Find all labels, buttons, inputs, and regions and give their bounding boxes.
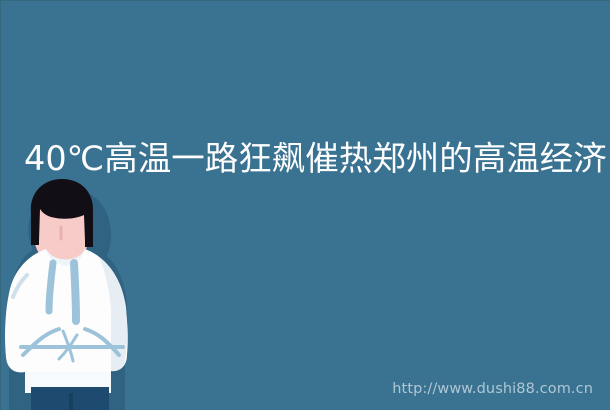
news-banner: 40℃高温一路狂飙催热郑州的高温经济 http://www.dushi88.co… xyxy=(0,0,610,410)
hair-right-lock xyxy=(85,211,93,247)
drawstring-right xyxy=(74,263,76,321)
hair-left-lock xyxy=(31,209,39,245)
source-watermark: http://www.dushi88.com.cn xyxy=(392,381,593,397)
page-title: 40℃高温一路狂飙催热郑州的高温经济 xyxy=(24,135,599,183)
person-illustration xyxy=(1,179,146,410)
drawstring-left xyxy=(49,263,53,311)
pants-gap xyxy=(69,393,73,410)
